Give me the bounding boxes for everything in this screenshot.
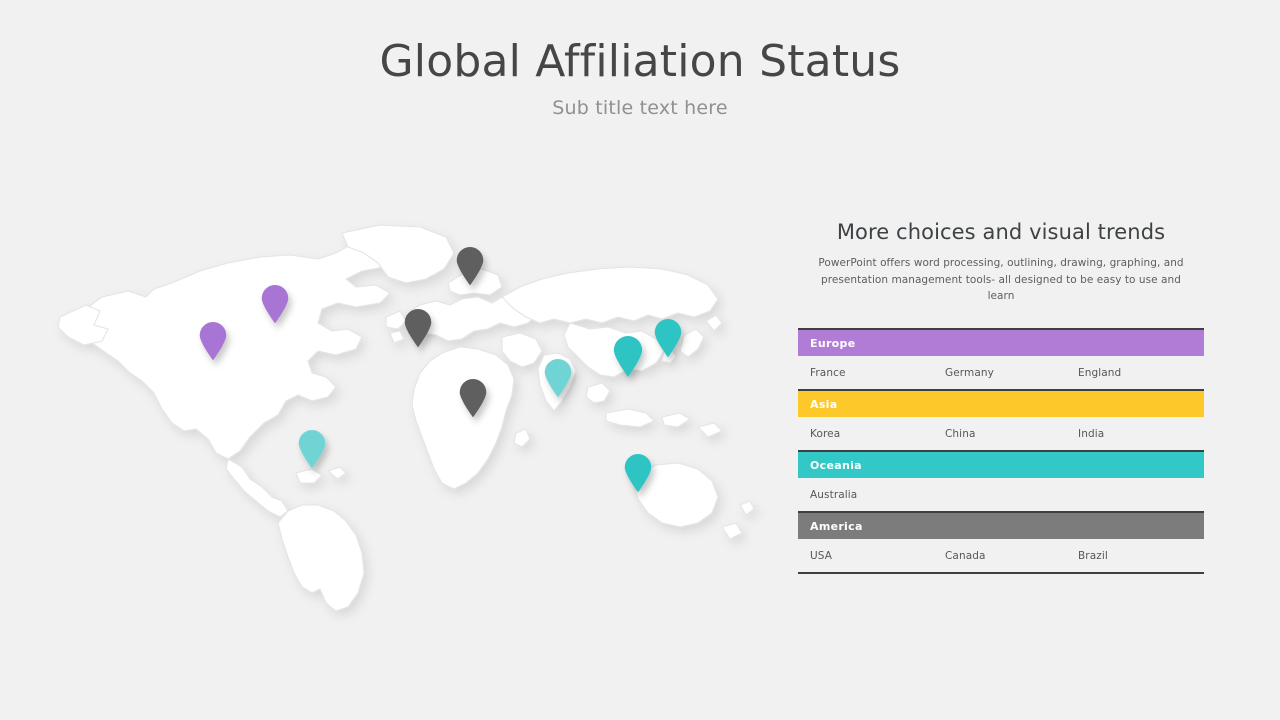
table-row: Australia	[798, 478, 1204, 511]
page-subtitle: Sub title text here	[0, 97, 1280, 119]
region-header-asia[interactable]: Asia	[798, 389, 1204, 417]
region-header-america[interactable]: America	[798, 511, 1204, 539]
country-cell: China	[945, 428, 1078, 440]
region-name: Europe	[810, 337, 855, 350]
world-map-panel	[50, 205, 790, 625]
region-header-oceania[interactable]: Oceania	[798, 450, 1204, 478]
slide-header: Global Affiliation Status Sub title text…	[0, 38, 1280, 119]
region-block: AsiaKoreaChinaIndia	[798, 389, 1204, 450]
country-cell: Korea	[810, 428, 945, 440]
country-cell: England	[1078, 367, 1198, 379]
region-block: OceaniaAustralia	[798, 450, 1204, 511]
country-cell: USA	[810, 550, 945, 562]
table-row: FranceGermanyEngland	[798, 356, 1204, 389]
region-name: Oceania	[810, 459, 862, 472]
info-panel: More choices and visual trends PowerPoin…	[798, 220, 1204, 305]
table-row: KoreaChinaIndia	[798, 417, 1204, 450]
info-body-text: PowerPoint offers word processing, outli…	[798, 255, 1204, 305]
country-cell: India	[1078, 428, 1198, 440]
region-header-europe[interactable]: Europe	[798, 328, 1204, 356]
region-block: EuropeFranceGermanyEngland	[798, 328, 1204, 389]
region-name: Asia	[810, 398, 837, 411]
world-map-graphic	[50, 205, 790, 625]
region-list: EuropeFranceGermanyEnglandAsiaKoreaChina…	[798, 328, 1204, 572]
country-cell: Australia	[810, 489, 945, 501]
table-row: USACanadaBrazil	[798, 539, 1204, 572]
country-cell: Germany	[945, 367, 1078, 379]
country-cell: France	[810, 367, 945, 379]
region-name: America	[810, 520, 863, 533]
page-title: Global Affiliation Status	[0, 38, 1280, 86]
region-block: AmericaUSACanadaBrazil	[798, 511, 1204, 572]
slide-canvas: Global Affiliation Status Sub title text…	[0, 0, 1280, 720]
info-heading: More choices and visual trends	[798, 220, 1204, 244]
table-bottom-rule	[798, 572, 1204, 574]
country-cell: Canada	[945, 550, 1078, 562]
country-cell: Brazil	[1078, 550, 1198, 562]
affiliation-table: EuropeFranceGermanyEnglandAsiaKoreaChina…	[798, 328, 1204, 574]
